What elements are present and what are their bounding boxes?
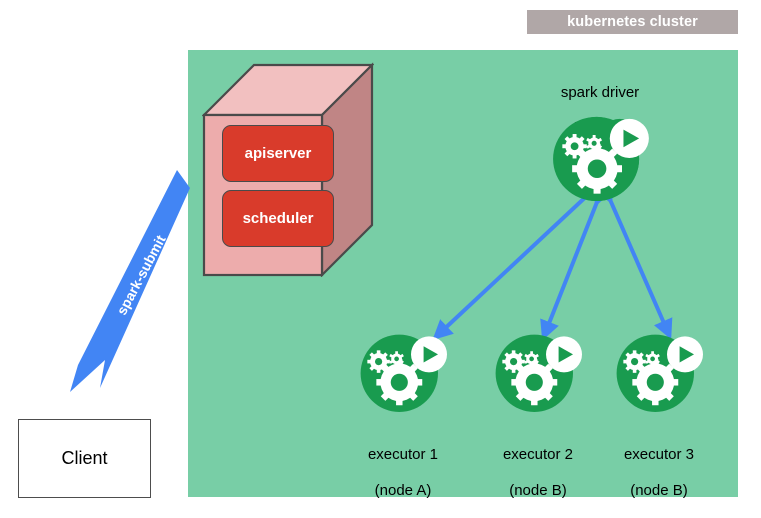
- scheduler-component[interactable]: scheduler: [222, 190, 334, 247]
- client-box[interactable]: Client: [18, 419, 151, 498]
- executor-2-caption-line2: (node B): [472, 482, 604, 500]
- executor-3-caption-line2: (node B): [593, 482, 725, 500]
- apiserver-label: apiserver: [245, 145, 312, 162]
- spark-driver-node[interactable]: [551, 113, 649, 201]
- executor-3-caption-line1: executor 3: [593, 446, 725, 464]
- executor-1-caption: executor 1 (node A): [337, 428, 469, 518]
- gears-play-icon: [553, 117, 649, 201]
- executor-2-caption-line1: executor 2: [472, 446, 604, 464]
- diagram-canvas: kubernetes cluster spark-submit apiserve…: [0, 0, 761, 516]
- gears-play-icon: [617, 335, 703, 412]
- spark-driver-caption-line1: spark driver: [528, 84, 672, 102]
- executor-1-caption-line2: (node A): [337, 482, 469, 500]
- gears-play-icon: [496, 335, 582, 412]
- client-label: Client: [61, 448, 107, 469]
- executor-1-caption-line1: executor 1: [337, 446, 469, 464]
- executor-3-caption: executor 3 (node B): [593, 428, 725, 518]
- spark-submit-arrow-icon: [60, 160, 205, 410]
- executor-2-node[interactable]: [492, 331, 582, 412]
- gears-play-icon: [361, 335, 447, 412]
- cluster-label-banner: kubernetes cluster: [527, 10, 738, 34]
- cluster-label-text: kubernetes cluster: [567, 14, 698, 30]
- executor-1-node[interactable]: [357, 331, 447, 412]
- scheduler-label: scheduler: [243, 210, 314, 227]
- executor-2-caption: executor 2 (node B): [472, 428, 604, 518]
- apiserver-component[interactable]: apiserver: [222, 125, 334, 182]
- executor-3-node[interactable]: [613, 331, 703, 412]
